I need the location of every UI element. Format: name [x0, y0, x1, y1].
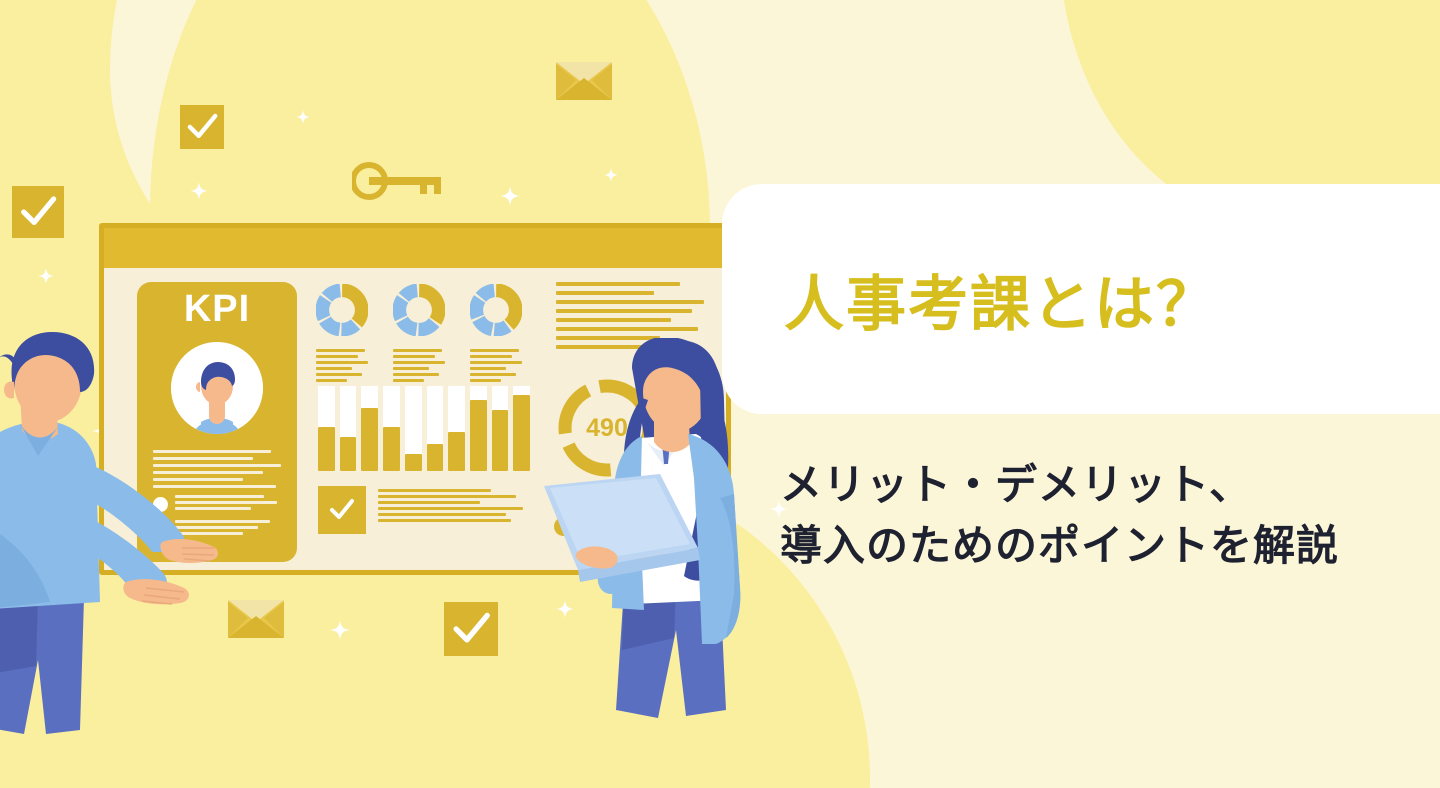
- envelope-icon: [556, 62, 612, 100]
- bar-slot: [405, 386, 422, 471]
- text-line: [378, 495, 516, 498]
- text-line: [556, 327, 698, 331]
- text-line: [470, 367, 506, 370]
- text-line: [470, 373, 516, 376]
- text-line: [470, 349, 519, 352]
- donut-caption-lines: [393, 349, 445, 382]
- text-line: [556, 282, 680, 286]
- envelope-icon: [228, 600, 284, 638]
- checkmark-icon: [12, 186, 64, 238]
- text-line: [393, 367, 429, 370]
- checkbox-far-left: [12, 186, 64, 238]
- bar-7: [448, 432, 465, 471]
- bar-slot: [427, 386, 444, 471]
- checkmark-icon: [318, 486, 366, 534]
- bar-chart: [318, 386, 530, 471]
- text-line: [393, 355, 435, 358]
- board-header-bar: [104, 228, 726, 268]
- key-icon: [352, 162, 444, 205]
- bar-1: [318, 427, 335, 471]
- bar-slot: [361, 386, 378, 471]
- text-line: [378, 501, 480, 504]
- text-line: [556, 291, 654, 295]
- text-line: [393, 373, 439, 376]
- page-title: 人事考課とは？: [784, 256, 1218, 343]
- sparkle-icon: [190, 182, 208, 200]
- bar-slot: [492, 386, 509, 471]
- check-text-lines: [378, 486, 523, 534]
- text-line: [556, 318, 671, 322]
- kpi-label: KPI: [137, 288, 297, 331]
- text-line: [470, 361, 522, 364]
- envelope-top: [556, 62, 612, 105]
- bar-5: [405, 454, 422, 471]
- bar-10: [513, 395, 530, 472]
- bar-4: [383, 427, 400, 471]
- checkbox-top-left-inner: [180, 105, 224, 149]
- illustration-man-presenting: [0, 330, 226, 750]
- bar-slot: [513, 386, 530, 471]
- bar-slot: [340, 386, 357, 471]
- text-line: [316, 349, 365, 352]
- subtitle-line-2: 導入のためのポイントを解説: [780, 516, 1440, 577]
- text-line: [378, 513, 506, 516]
- subtitle-line-1: メリット・デメリット、: [780, 455, 1440, 516]
- text-line: [556, 309, 692, 313]
- bar-2: [340, 437, 357, 471]
- bar-9: [492, 410, 509, 471]
- bar-slot: [318, 386, 335, 471]
- bar-slot: [470, 386, 487, 471]
- checkbox-bottom: [444, 602, 498, 656]
- checkmark-icon: [444, 602, 498, 656]
- sparkle-icon: [38, 268, 54, 284]
- sparkle-icon: [604, 168, 618, 182]
- donut-chart-3: [470, 284, 522, 385]
- text-line: [316, 361, 368, 364]
- bar-3: [361, 408, 378, 471]
- donut-svg: [470, 284, 522, 336]
- text-line: [378, 519, 511, 522]
- text-line: [556, 300, 704, 304]
- bar-8: [470, 400, 487, 471]
- donut-chart-row: [316, 284, 522, 385]
- text-line: [393, 349, 442, 352]
- text-line: [393, 361, 445, 364]
- text-line: [393, 379, 424, 382]
- text-line: [316, 373, 362, 376]
- text-line: [378, 507, 523, 510]
- sparkle-icon: [296, 110, 310, 124]
- text-line: [316, 379, 347, 382]
- check-text-block: [318, 486, 523, 534]
- text-line: [316, 367, 352, 370]
- page-subtitle: メリット・デメリット、 導入のためのポイントを解説: [780, 455, 1440, 577]
- bar-6: [427, 444, 444, 471]
- bar-slot: [448, 386, 465, 471]
- donut-caption-lines: [470, 349, 522, 382]
- bar-slot: [383, 386, 400, 471]
- donut-svg: [393, 284, 445, 336]
- envelope-bottom-left: [228, 600, 284, 643]
- sparkle-icon: [500, 186, 520, 206]
- donut-svg: [316, 284, 368, 336]
- donut-chart-2: [393, 284, 445, 385]
- donut-caption-lines: [316, 349, 368, 382]
- sparkle-icon: [330, 620, 350, 640]
- hero-banner: KPI: [0, 0, 1440, 788]
- text-line: [470, 355, 512, 358]
- text-line: [378, 489, 491, 492]
- title-panel: 人事考課とは？: [722, 184, 1440, 414]
- donut-chart-1: [316, 284, 368, 385]
- text-line: [316, 355, 358, 358]
- checkmark-icon: [180, 105, 224, 149]
- text-line: [470, 379, 501, 382]
